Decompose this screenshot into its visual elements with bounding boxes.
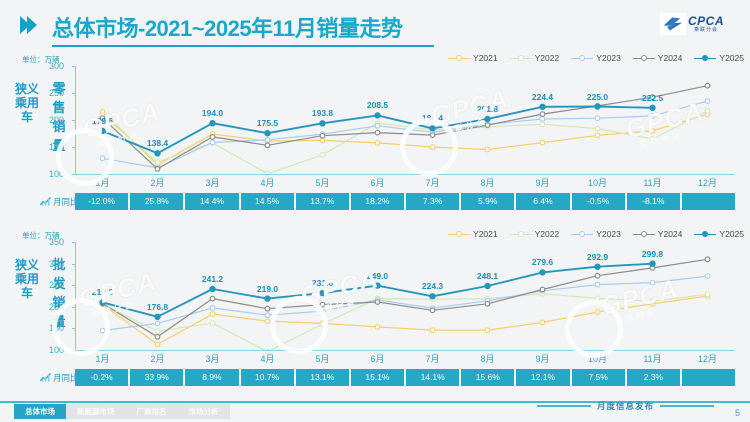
month-label-7: 7月: [405, 176, 460, 191]
trend-chart-icon: [40, 197, 51, 206]
footer-tab-3[interactable]: 市场分析: [178, 404, 230, 419]
series-line-Y2023: [103, 276, 708, 331]
series-point-Y2025: [485, 116, 490, 121]
chart-panel-retail: 单位：万辆 狭义乘用车 零售销量 Y2021Y2022Y2023Y2024Y20…: [0, 52, 750, 224]
data-label: 179.6: [92, 116, 113, 126]
month-label-6: 6月: [350, 352, 405, 367]
legend-item-Y2025[interactable]: Y2025: [694, 229, 744, 239]
series-point-Y2024: [265, 306, 270, 311]
y-tick-label: 350: [49, 237, 64, 247]
month-label-3: 3月: [185, 176, 240, 191]
series-point-Y2022: [705, 292, 710, 297]
legend-label: Y2023: [596, 229, 621, 239]
footer-center: 月度信息发布: [537, 400, 714, 412]
legend-swatch-icon: [633, 54, 655, 63]
series-point-Y2021: [595, 133, 600, 138]
legend-label: Y2021: [473, 229, 498, 239]
legend-label: Y2024: [658, 229, 683, 239]
series-point-Y2024: [375, 130, 380, 135]
legend-item-Y2021[interactable]: Y2021: [448, 229, 498, 239]
series-point-Y2025: [320, 291, 325, 296]
y-tick-mark: [72, 120, 76, 121]
mom-values: -0.2%33.9%8.9%10.7%13.1%15.1%14.1%15.6%1…: [75, 369, 735, 386]
series-point-Y2025: [595, 104, 600, 109]
legend-label: Y2022: [535, 53, 560, 63]
month-label-4: 4月: [240, 176, 295, 191]
legend-swatch-icon: [633, 230, 655, 239]
legend-item-Y2021[interactable]: Y2021: [448, 53, 498, 63]
series-point-Y2024: [540, 287, 545, 292]
series-point-Y2023: [650, 280, 655, 285]
legend-label: Y2024: [658, 53, 683, 63]
series-line-Y2021: [103, 112, 708, 165]
series-point-Y2025: [210, 286, 215, 291]
series-point-Y2025: [265, 131, 270, 136]
series-point-Y2023: [265, 313, 270, 318]
mom-cell-4: 14.5%: [241, 193, 294, 210]
series-point-Y2024: [540, 112, 545, 117]
series-point-Y2025: [320, 121, 325, 126]
y-axis: 100150200250300: [0, 66, 70, 174]
series-point-Y2024: [375, 300, 380, 305]
series-point-Y2021: [540, 320, 545, 325]
mom-cell-8: 5.9%: [461, 193, 514, 210]
legend-swatch-icon: [571, 230, 593, 239]
y-tick-mark: [72, 264, 76, 265]
chart-series-svg: [75, 242, 735, 354]
series-point-Y2022: [595, 296, 600, 301]
mom-cell-5: 13.7%: [296, 193, 349, 210]
series-point-Y2021: [595, 310, 600, 315]
month-label-9: 9月: [515, 352, 570, 367]
mom-cell-1: -0.2%: [75, 369, 128, 386]
y-tick-mark: [72, 242, 76, 243]
mom-cell-11: 2.3%: [627, 369, 680, 386]
slide-footer: 总体市场新能源市场厂商排名市场分析 月度信息发布 5: [0, 400, 750, 422]
series-point-Y2023: [100, 328, 105, 333]
y-tick-label: 250: [49, 88, 64, 98]
series-point-Y2022: [650, 137, 655, 142]
data-label: 208.5: [367, 100, 388, 110]
mom-cell-11: -8.1%: [627, 193, 680, 210]
series-point-Y2024: [595, 273, 600, 278]
mom-cell-9: 12.1%: [516, 369, 569, 386]
cpca-swoosh-icon: [660, 13, 686, 35]
data-label: 231.6: [312, 278, 333, 288]
mom-cell-2: 33.9%: [130, 369, 183, 386]
legend-item-Y2023[interactable]: Y2023: [571, 53, 621, 63]
mom-cell-9: 6.4%: [516, 193, 569, 210]
series-point-Y2024: [155, 167, 160, 172]
series-point-Y2025: [540, 270, 545, 275]
data-label: 210.3: [92, 287, 113, 297]
mom-cell-6: 15.1%: [351, 369, 404, 386]
series-point-Y2021: [155, 342, 160, 347]
y-tick-label: 100: [49, 345, 64, 355]
series-point-Y2022: [705, 109, 710, 114]
data-label: 249.0: [367, 271, 388, 281]
data-label: 224.4: [532, 92, 553, 102]
month-label-9: 9月: [515, 176, 570, 191]
cpca-logo: CPCA 乘联分会: [660, 11, 742, 37]
series-point-Y2023: [595, 282, 600, 287]
series-line-Y2022: [103, 111, 708, 174]
y-tick-label: 250: [49, 280, 64, 290]
month-label-2: 2月: [130, 176, 185, 191]
legend-item-Y2025[interactable]: Y2025: [694, 53, 744, 63]
line-chart-plot: 210.3176.8241.2219.0231.6249.0224.3248.1…: [75, 242, 735, 350]
series-point-Y2022: [650, 299, 655, 304]
y-tick-label: 200: [49, 115, 64, 125]
footer-tab-1[interactable]: 新能源市场: [66, 404, 126, 419]
series-line-Y2024: [103, 86, 708, 169]
data-label: 193.8: [312, 108, 333, 118]
month-label-5: 5月: [295, 352, 350, 367]
mom-cell-10: -0.5%: [572, 193, 625, 210]
y-tick-label: 100: [49, 169, 64, 179]
y-tick-label: 150: [49, 142, 64, 152]
chart-legend: Y2021Y2022Y2023Y2024Y2025: [448, 229, 744, 239]
y-tick-mark: [72, 328, 76, 329]
mom-row: 月同比 -12.0%25.8%14.4%14.5%13.7%18.2%7.3%5…: [0, 193, 750, 210]
mom-cell-5: 13.1%: [296, 369, 349, 386]
series-point-Y2024: [705, 83, 710, 88]
legend-swatch-icon: [448, 230, 470, 239]
trend-chart-icon: [40, 373, 51, 382]
series-point-Y2023: [595, 116, 600, 121]
series-point-Y2025: [265, 296, 270, 301]
legend-item-Y2024[interactable]: Y2024: [633, 53, 683, 63]
mom-cell-12: [682, 193, 735, 210]
series-point-Y2024: [430, 308, 435, 313]
series-point-Y2024: [210, 135, 215, 140]
series-point-Y2023: [265, 138, 270, 143]
mom-cell-2: 25.8%: [130, 193, 183, 210]
series-point-Y2025: [485, 283, 490, 288]
series-point-Y2023: [540, 117, 545, 122]
legend-swatch-icon: [694, 54, 716, 63]
mom-cell-4: 10.7%: [241, 369, 294, 386]
legend-label: Y2025: [719, 229, 744, 239]
legend-swatch-icon: [448, 54, 470, 63]
month-label-6: 6月: [350, 176, 405, 191]
y-tick-mark: [72, 174, 76, 175]
series-line-Y2021: [103, 296, 708, 344]
legend-item-Y2022[interactable]: Y2022: [510, 229, 560, 239]
footer-rule-right: [660, 405, 714, 407]
month-axis: 1月2月3月4月5月6月7月8月9月10月11月12月: [75, 176, 735, 191]
series-point-Y2025: [100, 128, 105, 133]
y-tick-label: 150: [49, 323, 64, 333]
mom-row-label: 月同比: [40, 369, 79, 386]
series-line-Y2022: [103, 294, 708, 352]
title-underline: [52, 45, 434, 47]
month-label-4: 4月: [240, 352, 295, 367]
series-point-Y2023: [100, 156, 105, 161]
data-label: 201.8: [477, 104, 498, 114]
month-label-1: 1月: [75, 352, 130, 367]
mom-cell-7: 7.3%: [406, 193, 459, 210]
mom-cell-12: [682, 369, 735, 386]
series-point-Y2025: [650, 261, 655, 266]
series-point-Y2021: [375, 325, 380, 330]
series-point-Y2023: [650, 114, 655, 119]
x-axis-baseline: [75, 174, 735, 175]
line-chart-plot: 179.6138.4194.0175.5193.8208.5184.4201.8…: [75, 66, 735, 174]
legend-swatch-icon: [571, 54, 593, 63]
series-point-Y2024: [210, 296, 215, 301]
slide-root: 总体市场-2021~2025年11月销量走势 CPCA 乘联分会 单位：万辆 狭…: [0, 0, 750, 422]
month-label-2: 2月: [130, 352, 185, 367]
series-point-Y2023: [155, 321, 160, 326]
series-point-Y2025: [155, 151, 160, 156]
month-label-7: 7月: [405, 352, 460, 367]
footer-rule-left: [537, 405, 591, 407]
y-tick-mark: [72, 307, 76, 308]
legend-swatch-icon: [510, 54, 532, 63]
mom-cell-10: 7.5%: [572, 369, 625, 386]
month-label-11: 11月: [625, 352, 680, 367]
series-point-Y2025: [100, 300, 105, 305]
legend-item-Y2022[interactable]: Y2022: [510, 53, 560, 63]
footer-center-text: 月度信息发布: [597, 400, 654, 412]
series-point-Y2024: [155, 335, 160, 340]
legend-label: Y2023: [596, 53, 621, 63]
y-tick-label: 300: [49, 61, 64, 71]
month-label-5: 5月: [295, 176, 350, 191]
series-point-Y2021: [430, 145, 435, 150]
data-label: 241.2: [202, 274, 223, 284]
data-label: 292.9: [587, 252, 608, 262]
series-point-Y2021: [265, 319, 270, 324]
mom-row-label: 月同比: [40, 193, 79, 210]
footer-tab-0[interactable]: 总体市场: [14, 404, 66, 419]
data-label: 299.8: [642, 249, 663, 259]
series-point-Y2025: [430, 294, 435, 299]
series-point-Y2021: [375, 141, 380, 146]
data-label: 194.0: [202, 108, 223, 118]
data-label: 175.5: [257, 118, 278, 128]
series-point-Y2022: [155, 329, 160, 334]
series-point-Y2022: [320, 322, 325, 327]
legend-label: Y2022: [535, 229, 560, 239]
series-point-Y2025: [540, 104, 545, 109]
month-label-1: 1月: [75, 176, 130, 191]
series-point-Y2023: [320, 309, 325, 314]
series-point-Y2024: [320, 302, 325, 307]
chart-panel-wholesale: 单位：万辆 狭义乘用车 批发销量 Y2021Y2022Y2023Y2024Y20…: [0, 228, 750, 400]
x-axis-baseline: [75, 350, 735, 351]
month-label-12: 12月: [680, 176, 735, 191]
legend-item-Y2024[interactable]: Y2024: [633, 229, 683, 239]
series-point-Y2022: [595, 126, 600, 131]
cpca-logo-text: CPCA: [688, 15, 724, 27]
series-point-Y2024: [485, 302, 490, 307]
y-tick-label: 200: [49, 302, 64, 312]
mom-cell-6: 18.2%: [351, 193, 404, 210]
series-point-Y2021: [540, 140, 545, 145]
mom-values: -12.0%25.8%14.4%14.5%13.7%18.2%7.3%5.9%6…: [75, 193, 735, 210]
footer-tabbar[interactable]: 总体市场新能源市场厂商排名市场分析: [14, 404, 230, 419]
legend-label: Y2021: [473, 53, 498, 63]
series-point-Y2024: [320, 133, 325, 138]
page-number: 5: [735, 408, 740, 418]
series-point-Y2025: [595, 264, 600, 269]
mom-cell-3: 14.4%: [185, 193, 238, 210]
series-point-Y2021: [210, 312, 215, 317]
data-label: 279.6: [532, 257, 553, 267]
month-label-11: 11月: [625, 176, 680, 191]
page-title: 总体市场-2021~2025年11月销量走势: [52, 11, 402, 43]
month-label-3: 3月: [185, 352, 240, 367]
series-point-Y2025: [430, 126, 435, 131]
data-label: 176.8: [147, 302, 168, 312]
mom-row: 月同比 -0.2%33.9%8.9%10.7%13.1%15.1%14.1%15…: [0, 369, 750, 386]
slide-header: 总体市场-2021~2025年11月销量走势 CPCA 乘联分会: [0, 0, 750, 48]
series-point-Y2021: [485, 328, 490, 333]
month-axis: 1月2月3月4月5月6月7月8月9月10月11月12月: [75, 352, 735, 367]
data-label: 138.4: [147, 138, 168, 148]
y-tick-mark: [72, 350, 76, 351]
series-point-Y2023: [210, 306, 215, 311]
y-tick-mark: [72, 66, 76, 67]
mom-cell-1: -12.0%: [75, 193, 128, 210]
mom-cell-8: 15.6%: [461, 369, 514, 386]
y-tick-mark: [72, 285, 76, 286]
legend-label: Y2025: [719, 53, 744, 63]
series-point-Y2021: [650, 129, 655, 134]
series-point-Y2024: [430, 133, 435, 138]
chart-legend: Y2021Y2022Y2023Y2024Y2025: [448, 53, 744, 63]
series-point-Y2021: [430, 328, 435, 333]
legend-item-Y2023[interactable]: Y2023: [571, 229, 621, 239]
month-label-8: 8月: [460, 176, 515, 191]
data-label: 224.3: [422, 281, 443, 291]
series-point-Y2021: [485, 147, 490, 152]
series-point-Y2024: [265, 143, 270, 148]
y-tick-mark: [72, 147, 76, 148]
series-point-Y2024: [705, 257, 710, 262]
month-label-12: 12月: [680, 352, 735, 367]
series-point-Y2023: [210, 140, 215, 145]
mom-cell-7: 14.1%: [406, 369, 459, 386]
data-label: 184.4: [422, 113, 443, 123]
month-label-8: 8月: [460, 352, 515, 367]
series-point-Y2023: [375, 124, 380, 129]
footer-tab-2[interactable]: 厂商排名: [126, 404, 178, 419]
series-point-Y2025: [210, 121, 215, 126]
series-point-Y2025: [375, 113, 380, 118]
series-point-Y2022: [155, 160, 160, 165]
series-point-Y2023: [705, 274, 710, 279]
series-point-Y2022: [540, 122, 545, 127]
series-point-Y2022: [320, 153, 325, 158]
data-label: 219.0: [257, 284, 278, 294]
y-tick-mark: [72, 93, 76, 94]
cpca-logo-subtext: 乘联分会: [694, 28, 718, 33]
y-axis-line: [75, 242, 76, 350]
series-point-Y2025: [650, 105, 655, 110]
y-axis: 100150200250300350: [0, 242, 70, 350]
series-point-Y2021: [320, 138, 325, 143]
mom-cell-3: 8.9%: [185, 369, 238, 386]
legend-swatch-icon: [510, 230, 532, 239]
chart-series-svg: [75, 66, 735, 178]
legend-swatch-icon: [694, 230, 716, 239]
data-label: 222.5: [642, 93, 663, 103]
series-point-Y2025: [155, 314, 160, 319]
y-tick-label: 300: [49, 259, 64, 269]
series-point-Y2024: [485, 123, 490, 128]
double-chevron-right-icon: [20, 16, 37, 34]
series-point-Y2025: [375, 283, 380, 288]
series-point-Y2023: [705, 99, 710, 104]
data-label: 225.0: [587, 92, 608, 102]
data-label: 248.1: [477, 271, 498, 281]
series-point-Y2022: [210, 321, 215, 326]
month-label-10: 10月: [570, 176, 625, 191]
month-label-10: 10月: [570, 352, 625, 367]
